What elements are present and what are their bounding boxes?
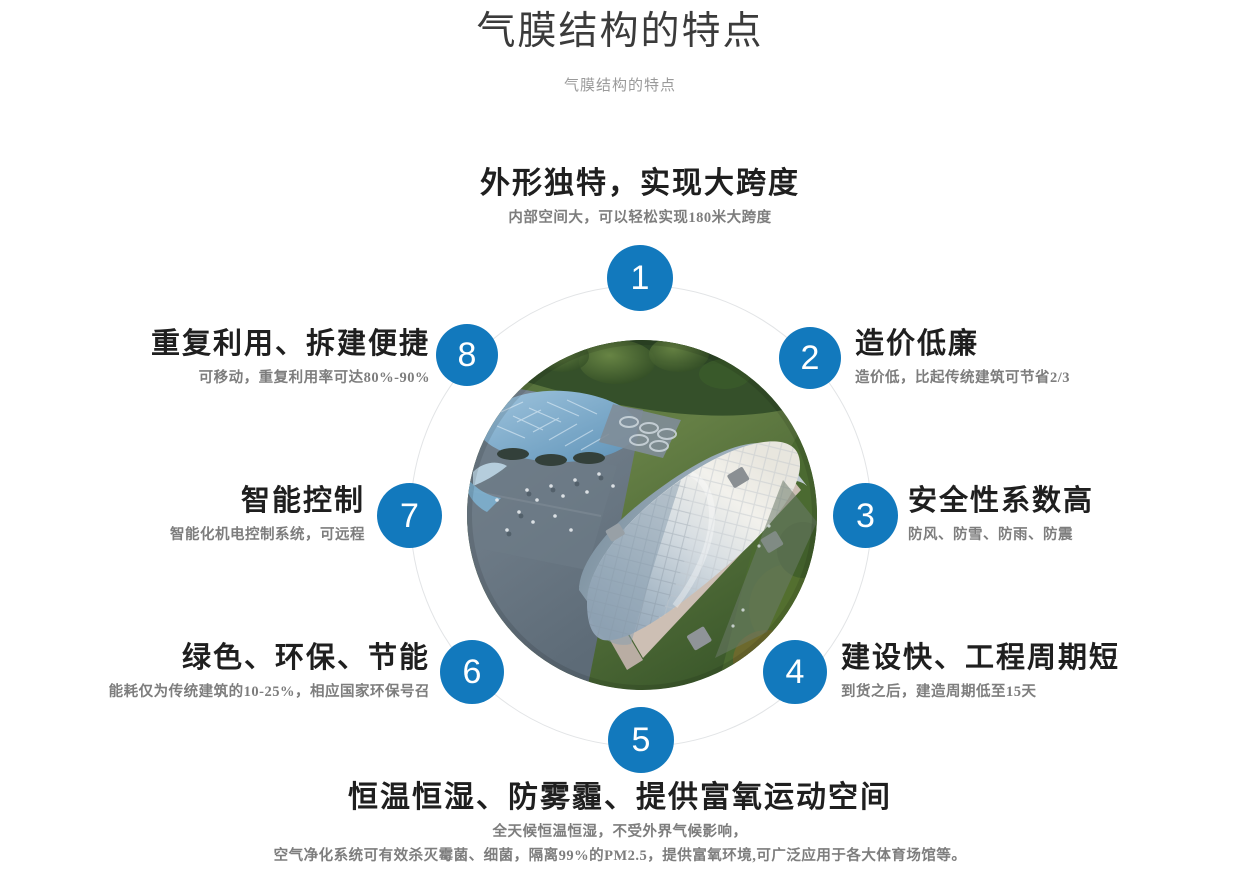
feature-title-6: 绿色、环保、节能 <box>10 639 430 677</box>
feature-item-6: 绿色、环保、节能 能耗仅为传统建筑的10-25%，相应国家环保号召 <box>10 639 430 704</box>
feature-title-8: 重复利用、拆建便捷 <box>60 325 430 363</box>
feature-title-5: 恒温恒湿、防雾霾、提供富氧运动空间 <box>230 779 1010 817</box>
feature-item-4: 建设快、工程周期短 到货之后，建造周期低至15天 <box>841 639 1201 704</box>
feature-desc-1: 内部空间大，可以轻松实现180米大跨度 <box>320 206 960 230</box>
feature-badge-4[interactable]: 4 <box>763 640 827 704</box>
feature-badge-3[interactable]: 3 <box>833 483 898 548</box>
infographic-page: 气膜结构的特点 气膜结构的特点 <box>0 0 1240 870</box>
center-photo <box>467 340 817 690</box>
feature-badge-5[interactable]: 5 <box>608 707 674 773</box>
page-subtitle: 气膜结构的特点 <box>0 74 1240 95</box>
feature-title-2: 造价低廉 <box>855 325 1215 363</box>
feature-badge-7[interactable]: 7 <box>377 483 442 548</box>
air-dome-photo-illustration <box>467 340 817 690</box>
feature-desc-5-line1: 全天候恒温恒湿，不受外界气候影响， <box>493 824 748 840</box>
feature-badge-6[interactable]: 6 <box>440 640 504 704</box>
page-title: 气膜结构的特点 <box>0 6 1240 58</box>
feature-title-3: 安全性系数高 <box>908 482 1228 520</box>
feature-desc-8: 可移动，重复利用率可达80%-90% <box>60 366 430 390</box>
feature-badge-2[interactable]: 2 <box>779 327 841 389</box>
feature-desc-7: 智能化机电控制系统，可远程 <box>70 523 365 547</box>
feature-item-3: 安全性系数高 防风、防雪、防雨、防震 <box>908 482 1228 547</box>
feature-item-5: 恒温恒湿、防雾霾、提供富氧运动空间 全天候恒温恒湿，不受外界气候影响， 空气净化… <box>230 779 1010 868</box>
feature-item-8: 重复利用、拆建便捷 可移动，重复利用率可达80%-90% <box>60 325 430 390</box>
feature-item-1: 外形独特，实现大跨度 内部空间大，可以轻松实现180米大跨度 <box>320 165 960 230</box>
feature-title-1: 外形独特，实现大跨度 <box>320 165 960 203</box>
feature-item-2: 造价低廉 造价低，比起传统建筑可节省2/3 <box>855 325 1215 390</box>
feature-badge-8[interactable]: 8 <box>436 324 498 386</box>
feature-title-4: 建设快、工程周期短 <box>841 639 1201 677</box>
feature-item-7: 智能控制 智能化机电控制系统，可远程 <box>70 482 365 547</box>
feature-desc-5-line2: 空气净化系统可有效杀灭霉菌、细菌，隔离99%的PM2.5，提供富氧环境,可广泛应… <box>230 844 1010 868</box>
feature-desc-2: 造价低，比起传统建筑可节省2/3 <box>855 366 1215 390</box>
feature-desc-3: 防风、防雪、防雨、防震 <box>908 523 1228 547</box>
feature-desc-5: 全天候恒温恒湿，不受外界气候影响， 空气净化系统可有效杀灭霉菌、细菌，隔离99%… <box>230 820 1010 868</box>
feature-desc-6: 能耗仅为传统建筑的10-25%，相应国家环保号召 <box>10 680 430 704</box>
feature-title-7: 智能控制 <box>70 482 365 520</box>
feature-badge-1[interactable]: 1 <box>607 245 673 311</box>
feature-desc-4: 到货之后，建造周期低至15天 <box>841 680 1201 704</box>
